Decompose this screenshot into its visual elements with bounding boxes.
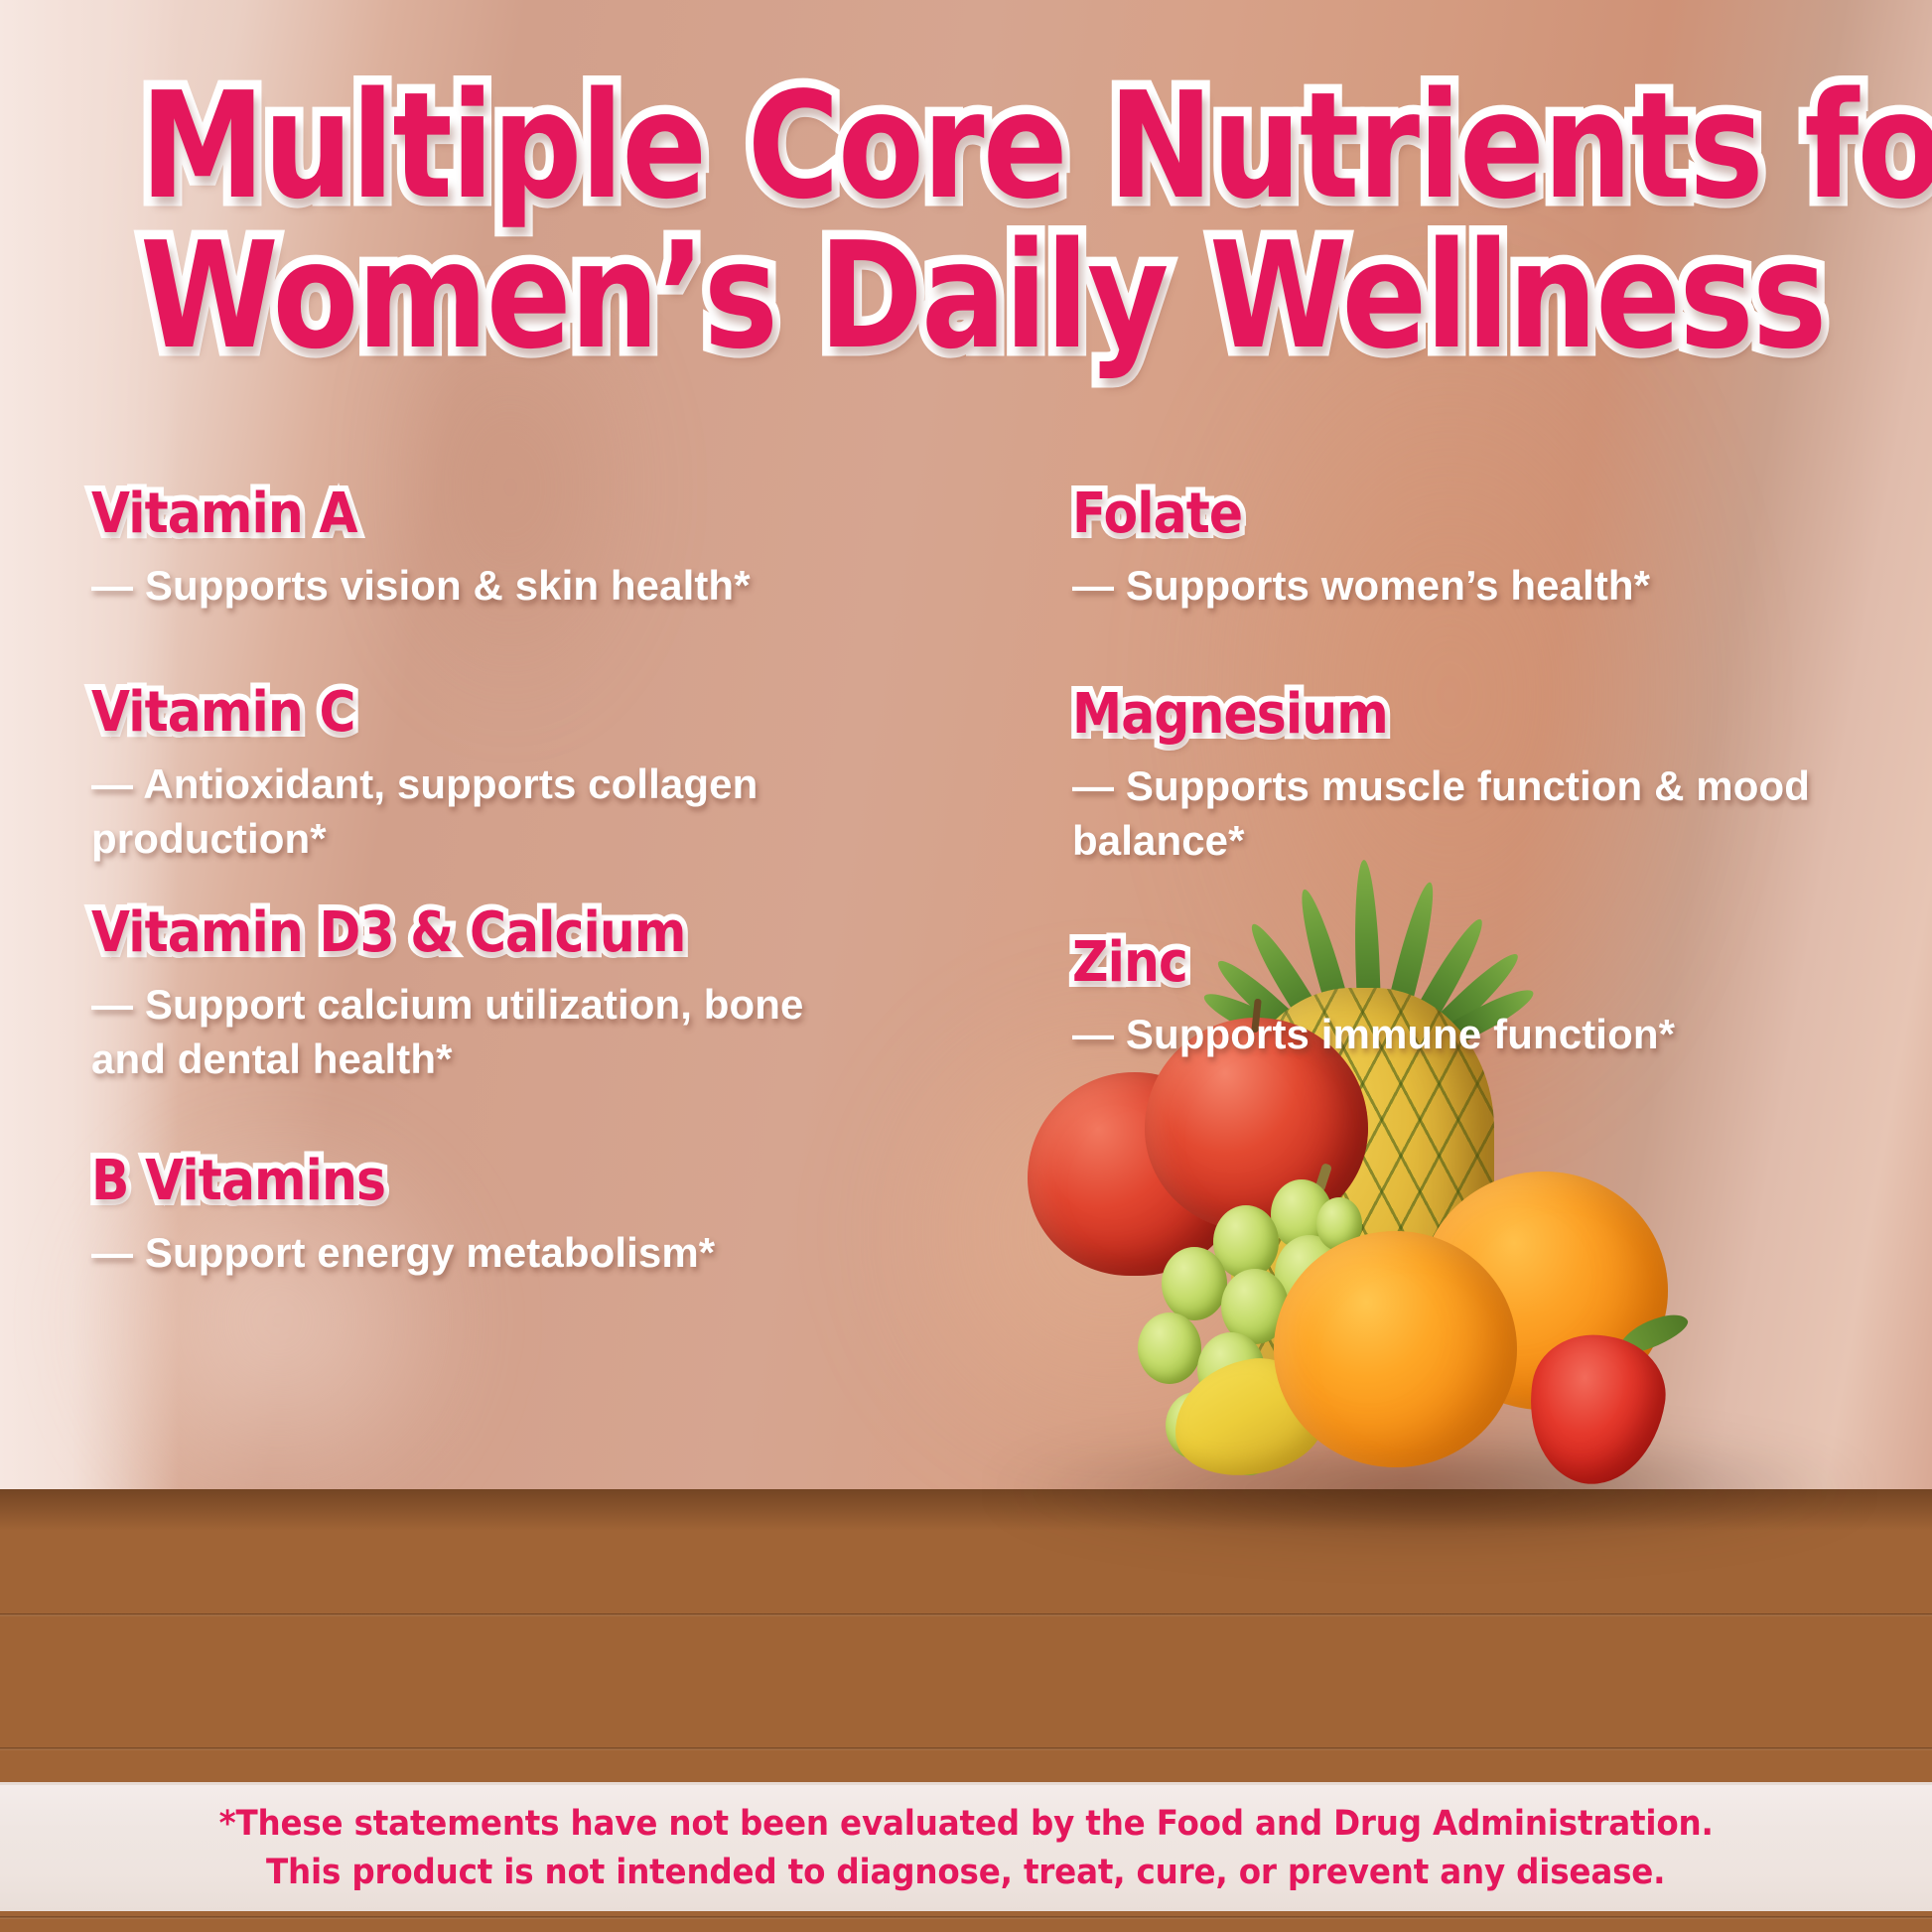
- disclaimer-line-2: This product is not intended to diagnose…: [266, 1849, 1665, 1896]
- nutrient-name: Folate: [1072, 484, 1787, 543]
- nutrient-item-folate: Folate — Supports women’s health*: [1072, 484, 1866, 614]
- nutrient-name: Magnesium: [1072, 685, 1787, 744]
- nutrient-infographic-poster: Multiple Core Nutrients for Women’s Dail…: [0, 0, 1932, 1932]
- page-title: Multiple Core Nutrients for Women’s Dail…: [0, 71, 1932, 371]
- nutrient-description: — Supports vision & skin health*: [91, 559, 876, 614]
- title-line-1: Multiple Core Nutrients for: [140, 71, 1792, 221]
- nutrient-description: — Supports women’s health*: [1072, 559, 1857, 614]
- nutrient-item-b-vitamins: B Vitamins — Support energy metabolism*: [91, 1152, 886, 1281]
- nutrient-item-magnesium: Magnesium — Supports muscle function & m…: [1072, 685, 1866, 869]
- nutrient-description: — Support calcium utilization, bone and …: [91, 978, 876, 1086]
- nutrient-description: — Supports muscle function & mood balanc…: [1072, 759, 1857, 868]
- nutrient-name: B Vitamins: [91, 1152, 806, 1210]
- nutrient-description: — Support energy metabolism*: [91, 1226, 876, 1281]
- title-line-2: Women’s Daily Wellness: [140, 221, 1792, 371]
- disclaimer-line-1: *These statements have not been evaluate…: [218, 1800, 1713, 1848]
- nutrient-item-vitamin-a: Vitamin A — Supports vision & skin healt…: [91, 484, 886, 614]
- nutrient-description: — Antioxidant, supports collagen product…: [91, 758, 876, 866]
- nutrient-item-vitamin-d3-calcium: Vitamin D3 & Calcium — Support calcium u…: [91, 903, 886, 1087]
- nutrient-name: Vitamin A: [91, 484, 806, 543]
- disclaimer-footer: *These statements have not been evaluate…: [0, 1782, 1932, 1911]
- nutrient-item-vitamin-c: Vitamin C — Antioxidant, supports collag…: [91, 683, 886, 867]
- nutrient-description: — Supports immune function*: [1072, 1008, 1857, 1062]
- nutrient-item-zinc: Zinc — Supports immune function*: [1072, 933, 1866, 1062]
- nutrient-name: Vitamin C: [91, 683, 806, 742]
- nutrient-name: Vitamin D3 & Calcium: [91, 903, 806, 962]
- nutrient-name: Zinc: [1072, 933, 1787, 992]
